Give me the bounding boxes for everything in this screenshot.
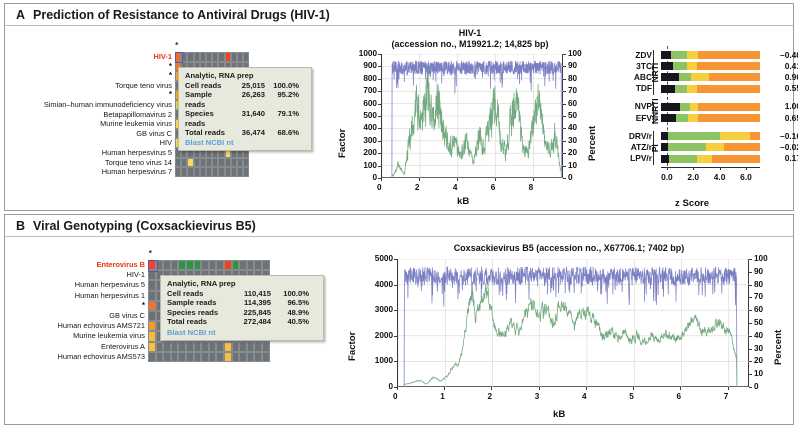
tooltip-row: Total reads36,47468.6% <box>185 128 305 137</box>
linechart-ytick-mark-right <box>749 387 752 388</box>
linechart-b-ylabel-right: Percent <box>773 330 784 365</box>
linechart-xtick-mark <box>680 387 681 390</box>
heatmap-row-label-star: * <box>44 71 172 81</box>
zscore-xtick-mark <box>746 167 747 171</box>
zscore-segment-black <box>661 114 676 122</box>
linechart-ytick-right: 30 <box>568 136 577 145</box>
linechart-ytick-right: 70 <box>754 292 763 301</box>
linechart-ytick-mark-right <box>563 178 566 179</box>
heatmap-row-label: Murine leukemia virus <box>58 331 146 341</box>
tooltip-row-key: Cell reads <box>185 81 233 90</box>
zscore-drug-label-tdf: TDF <box>617 83 652 93</box>
heatmap-row-label: Human echovirus AMS721 <box>58 321 146 331</box>
linechart-ytick-mark-left <box>378 128 381 129</box>
linechart-ytick-mark-left <box>378 54 381 55</box>
series-coverage-factor <box>382 66 564 178</box>
heatmap-cell[interactable] <box>201 260 209 270</box>
heatmap-cell[interactable] <box>232 260 240 270</box>
linechart-a-title-line1: HIV-1 <box>335 28 605 39</box>
tooltip-row-percent: 48.9% <box>271 308 309 317</box>
heatmap-row-label: Simian–human immunodeficiency virus <box>44 100 172 110</box>
zscore-segment-orange <box>712 155 761 163</box>
linechart-ytick-mark-right <box>749 374 752 375</box>
heatmap-cell[interactable] <box>254 260 262 270</box>
linechart-ytick-left: 400 <box>363 123 377 132</box>
linechart-ytick-right: 10 <box>568 161 577 170</box>
linechart-ytick-left: 100 <box>363 161 377 170</box>
heatmap-row-label: Human herpesvirus 7 <box>44 167 172 177</box>
heatmap-cell[interactable] <box>262 342 270 352</box>
tooltip-row: Sample reads26,26395.2% <box>185 90 305 109</box>
linechart-ytick-mark-right <box>749 310 752 311</box>
zscore-segment-orange <box>698 103 761 111</box>
tooltip-row-percent: 68.6% <box>265 128 299 137</box>
zscore-segment-green <box>668 143 707 151</box>
linechart-xtick-mark <box>495 178 496 181</box>
heatmap-cell[interactable] <box>148 280 156 290</box>
zscore-bar[interactable] <box>661 51 760 59</box>
heatmap-cell[interactable] <box>178 342 186 352</box>
zscore-segment-yellow <box>706 143 724 151</box>
linechart-ytick-left: 600 <box>363 99 377 108</box>
heatmap-cell[interactable] <box>239 260 247 270</box>
linechart-xtick-mark <box>633 387 634 390</box>
linechart-ytick-right: 80 <box>568 74 577 83</box>
zscore-segment-yellow <box>691 73 709 81</box>
zscore-value: –0.02 <box>771 142 798 152</box>
heatmap-cell[interactable] <box>194 342 202 352</box>
zscore-segment-green <box>679 73 691 81</box>
linechart-ytick-right: 80 <box>754 280 763 289</box>
panel-a-letter: A <box>16 8 25 22</box>
heatmap-row-label: Enterovirus A <box>58 342 146 352</box>
panel-a-title: Prediction of Resistance to Antiviral Dr… <box>33 8 330 22</box>
zscore-bar[interactable] <box>661 155 760 163</box>
linechart-xtick-mark <box>419 178 420 181</box>
zscore-segment-orange <box>697 62 760 70</box>
heatmap-cell[interactable] <box>163 260 171 270</box>
linechart-ytick-left: 4000 <box>375 280 393 289</box>
series-coverage-factor <box>398 283 750 387</box>
zscore-drug-label-atz-r: ATZ/r <box>617 142 652 152</box>
linechart-ytick-mark-right <box>563 153 566 154</box>
zscore-segment-black <box>661 51 671 59</box>
heatmap-cell[interactable] <box>247 352 255 362</box>
heatmap-b-row-labels: Enterovirus BHIV-1Human herpesvirus 5Hum… <box>58 260 149 362</box>
linechart-ytick-right: 40 <box>568 123 577 132</box>
tooltip-row: Sample reads114,39596.5% <box>167 298 317 307</box>
linechart-ytick-mark-right <box>749 323 752 324</box>
zscore-segment-orange <box>709 73 760 81</box>
heatmap-cell[interactable] <box>243 52 249 62</box>
linechart-ytick-mark-right <box>563 128 566 129</box>
zscore-drug-label-3tc: 3TC <box>617 61 652 71</box>
heatmap-cell[interactable] <box>194 352 202 362</box>
heatmap-cell[interactable] <box>148 352 156 362</box>
linechart-b: Coxsackievirus B5 (accession no., X67706… <box>345 243 793 433</box>
linechart-ytick-right: 20 <box>568 148 577 157</box>
heatmap-cell[interactable] <box>178 260 186 270</box>
linechart-ytick-left: 1000 <box>375 356 393 365</box>
linechart-ytick-left: 3000 <box>375 305 393 314</box>
heatmap-cell[interactable] <box>201 342 209 352</box>
tooltip-b-rows: Cell reads110,415100.0%Sample reads114,3… <box>167 289 317 327</box>
linechart-xtick: 2 <box>487 392 492 401</box>
linechart-ytick-right: 10 <box>754 369 763 378</box>
zscore-segment-orange <box>698 51 761 59</box>
tooltip-row-key: Total reads <box>167 317 229 326</box>
heatmap-cell[interactable] <box>156 260 164 270</box>
tooltip-a-title: Analytic, RNA prep <box>185 71 305 80</box>
panel-a-body: HIV-1**Torque teno virus*Simian–human im… <box>5 26 793 210</box>
linechart-ytick-mark-right <box>749 285 752 286</box>
heatmap-cell[interactable] <box>262 352 270 362</box>
linechart-ytick-mark-right <box>563 116 566 117</box>
linechart-ytick-right: 90 <box>754 267 763 276</box>
linechart-ytick-left: 5000 <box>375 254 393 263</box>
heatmap-cell[interactable] <box>224 342 232 352</box>
tooltip-row-percent: 100.0% <box>271 289 309 298</box>
zscore-value: 0.41 <box>771 61 798 71</box>
zscore-chart: ZDV–0.403TC0.41ABC0.96TDF0.55NVP1.00EFV0… <box>617 46 793 221</box>
zscore-value: 0.17 <box>771 153 798 163</box>
linechart-svg <box>398 259 750 387</box>
zscore-segment-black <box>661 143 668 151</box>
heatmap-row-label-star: * <box>58 301 146 311</box>
linechart-ytick-mark-right <box>749 272 752 273</box>
heatmap-b-column-star: * <box>149 249 152 258</box>
zscore-segment-black <box>661 103 680 111</box>
zscore-value: –0.16 <box>771 131 798 141</box>
linechart-a-xlabel: kB <box>457 196 469 207</box>
linechart-ytick-right: 100 <box>754 254 768 263</box>
heatmap-row-label: HIV-1 <box>44 52 172 62</box>
zscore-value: 1.00 <box>771 101 798 111</box>
heatmap-cell[interactable] <box>243 167 249 177</box>
heatmap-cell[interactable] <box>148 311 156 321</box>
heatmap-row-label: Torque teno virus 14 <box>44 158 172 168</box>
tooltip-row-value: 110,415 <box>229 289 271 298</box>
linechart-xtick: 2 <box>415 183 420 192</box>
linechart-xtick-mark <box>491 387 492 390</box>
linechart-svg <box>382 54 564 178</box>
zscore-value: –0.40 <box>771 50 798 60</box>
zscore-bar[interactable] <box>661 85 760 93</box>
linechart-b-plot <box>397 259 749 387</box>
linechart-ytick-mark-left <box>394 285 397 286</box>
linechart-a: HIV-1 (accession no., M19921.2; 14,825 b… <box>335 28 605 218</box>
zscore-drug-label-zdv: ZDV <box>617 50 652 60</box>
linechart-ytick-left: 1000 <box>359 49 377 58</box>
linechart-ytick-mark-left <box>378 104 381 105</box>
linechart-ytick-left: 900 <box>363 61 377 70</box>
linechart-ytick-mark-right <box>749 361 752 362</box>
tooltip-b-title: Analytic, RNA prep <box>167 279 317 288</box>
heatmap-a-row-labels: HIV-1**Torque teno virus*Simian–human im… <box>44 52 175 177</box>
tooltip-row-value: 36,474 <box>233 128 265 137</box>
zscore-segment-green <box>669 155 696 163</box>
tooltip-b-blast-link[interactable]: Blast NCBI nt <box>167 328 317 337</box>
linechart-ytick-left: 500 <box>363 111 377 120</box>
heatmap-cell[interactable] <box>171 352 179 362</box>
tooltip-b[interactable]: Analytic, RNA prep Cell reads110,415100.… <box>160 275 324 341</box>
heatmap-row-label: GB virus C <box>58 311 146 321</box>
tooltip-row-key: Species reads <box>167 308 229 317</box>
zscore-xtick: 6.0 <box>736 172 756 182</box>
heatmap-cell[interactable] <box>243 158 249 168</box>
linechart-ytick-right: 100 <box>568 49 582 58</box>
heatmap-cell[interactable] <box>148 270 156 280</box>
zscore-bar[interactable] <box>661 114 760 122</box>
linechart-xtick-mark <box>397 387 398 390</box>
linechart-ytick-left: 2000 <box>375 331 393 340</box>
linechart-xtick: 1 <box>440 392 445 401</box>
heatmap-cell[interactable] <box>216 260 224 270</box>
linechart-xtick-mark <box>444 387 445 390</box>
panel-b-letter: B <box>16 219 25 233</box>
zscore-bar[interactable] <box>661 143 760 151</box>
heatmap-row-label: Enterovirus B <box>58 260 146 270</box>
linechart-ytick-left: 700 <box>363 86 377 95</box>
linechart-b-title-line1: Coxsackievirus B5 (accession no., X67706… <box>345 243 793 254</box>
tooltip-row-key: Cell reads <box>167 289 229 298</box>
zscore-xtick-mark <box>667 167 668 171</box>
panel-b-body: Enterovirus BHIV-1Human herpesvirus 5Hum… <box>5 237 793 424</box>
linechart-ytick-mark-left <box>394 259 397 260</box>
heatmap-row-label: Betapapillomavirus 2 <box>44 110 172 120</box>
linechart-ytick-mark-left <box>378 166 381 167</box>
heatmap-cell[interactable] <box>209 352 217 362</box>
heatmap-cell[interactable] <box>156 352 164 362</box>
heatmap-cell[interactable] <box>148 291 156 301</box>
zscore-segment-green <box>671 51 687 59</box>
tooltip-a[interactable]: Analytic, RNA prep Cell reads25,015100.0… <box>178 67 312 151</box>
tooltip-row-percent: 40.5% <box>271 317 309 326</box>
heatmap-cell[interactable] <box>163 352 171 362</box>
tooltip-row-value: 26,263 <box>233 90 265 109</box>
linechart-ytick-right: 40 <box>754 331 763 340</box>
heatmap-cell[interactable] <box>254 342 262 352</box>
linechart-xtick: 3 <box>535 392 540 401</box>
tooltip-row-value: 272,484 <box>229 317 271 326</box>
linechart-xtick-mark <box>539 387 540 390</box>
zscore-group-label-nrti: NRTI <box>650 50 660 95</box>
heatmap-cell[interactable] <box>148 321 156 331</box>
panel-a: A Prediction of Resistance to Antiviral … <box>4 3 794 211</box>
zscore-segment-yellow <box>687 85 697 93</box>
linechart-ytick-right: 70 <box>568 86 577 95</box>
heatmap-cell[interactable] <box>232 342 240 352</box>
heatmap-row-label: Human herpesvirus 5 <box>44 148 172 158</box>
zscore-segment-orange <box>724 143 760 151</box>
tooltip-row-value: 25,015 <box>233 81 265 90</box>
linechart-ytick-mark-right <box>563 79 566 80</box>
heatmap-cell[interactable] <box>148 342 156 352</box>
linechart-xtick: 0 <box>393 392 398 401</box>
linechart-ytick-left: 200 <box>363 148 377 157</box>
heatmap-cell[interactable] <box>224 260 232 270</box>
heatmap-cell[interactable] <box>224 352 232 362</box>
tooltip-row-key: Species reads <box>185 109 233 128</box>
zscore-xtick: 4.0 <box>710 172 730 182</box>
tooltip-row-percent: 100.0% <box>265 81 299 90</box>
heatmap-cell[interactable] <box>247 342 255 352</box>
heatmap-cell[interactable] <box>163 342 171 352</box>
linechart-ytick-mark-left <box>394 336 397 337</box>
heatmap-cell[interactable] <box>209 342 217 352</box>
zscore-drug-label-drv-r: DRV/r <box>617 131 652 141</box>
heatmap-row-label: Human echovirus AMS573 <box>58 352 146 362</box>
tooltip-row-value: 114,395 <box>229 298 271 307</box>
linechart-b-xlabel: kB <box>553 409 565 420</box>
linechart-ytick-mark-right <box>749 349 752 350</box>
linechart-xtick: 6 <box>491 183 496 192</box>
heatmap-cell[interactable] <box>201 352 209 362</box>
zscore-bar[interactable] <box>661 103 760 111</box>
tooltip-row-percent: 95.2% <box>265 90 299 109</box>
heatmap-cell[interactable] <box>232 352 240 362</box>
zscore-segment-black <box>661 132 668 140</box>
linechart-xtick: 5 <box>629 392 634 401</box>
zscore-bar[interactable] <box>661 62 760 70</box>
linechart-a-plot <box>381 54 563 178</box>
tooltip-row-percent: 96.5% <box>271 298 309 307</box>
zscore-segment-black <box>661 155 669 163</box>
heatmap-cell[interactable] <box>156 342 164 352</box>
zscore-segment-green <box>673 62 687 70</box>
zscore-segment-yellow <box>697 155 712 163</box>
linechart-ytick-mark-right <box>563 141 566 142</box>
zscore-drug-label-nvp: NVP <box>617 101 652 111</box>
zscore-value: 0.55 <box>771 83 798 93</box>
linechart-xtick: 7 <box>724 392 729 401</box>
tooltip-row: Species reads225,84548.9% <box>167 308 317 317</box>
tooltip-row-value: 225,845 <box>229 308 271 317</box>
zscore-segment-orange <box>698 114 761 122</box>
heatmap-cell[interactable] <box>194 260 202 270</box>
heatmap-row-label: HIV-1 <box>58 270 146 280</box>
zscore-value: 0.65 <box>771 113 798 123</box>
zscore-segment-green <box>675 85 688 93</box>
zscore-segment-orange <box>697 85 760 93</box>
heatmap-cell[interactable] <box>171 260 179 270</box>
linechart-ytick-left: 800 <box>363 74 377 83</box>
zscore-drug-label-lpv-r: LPV/r <box>617 153 652 163</box>
heatmap-row-label: Torque teno virus <box>44 81 172 91</box>
zscore-bar[interactable] <box>661 132 760 140</box>
tooltip-row-key: Total reads <box>185 128 233 137</box>
figure-root: A Prediction of Resistance to Antiviral … <box>0 0 798 428</box>
linechart-xtick: 4 <box>453 183 458 192</box>
tooltip-row: Cell reads110,415100.0% <box>167 289 317 298</box>
panel-b-header: B Viral Genotyping (Coxsackievirus B5) <box>5 215 793 237</box>
linechart-ytick-right: 90 <box>568 61 577 70</box>
zscore-segment-yellow <box>720 132 750 140</box>
zscore-drug-label-abc: ABC <box>617 72 652 82</box>
zscore-group-label-pi: PI <box>650 131 660 165</box>
linechart-ytick-right: 20 <box>754 356 763 365</box>
zscore-segment-yellow <box>688 114 698 122</box>
heatmap-row-label: HIV <box>44 138 172 148</box>
tooltip-row-percent: 79.1% <box>265 109 299 128</box>
zscore-segment-black <box>661 85 675 93</box>
linechart-xtick-mark <box>728 387 729 390</box>
tooltip-row: Cell reads25,015100.0% <box>185 81 305 90</box>
linechart-ytick-mark-right <box>563 91 566 92</box>
heatmap-cell[interactable] <box>254 352 262 362</box>
heatmap-cell[interactable] <box>148 301 156 311</box>
heatmap-cell[interactable] <box>262 260 270 270</box>
zscore-segment-yellow <box>687 62 697 70</box>
linechart-ytick-right: 60 <box>754 305 763 314</box>
tooltip-a-rows: Cell reads25,015100.0%Sample reads26,263… <box>185 81 305 137</box>
heatmap-row-label: Human herpesvirus 5 <box>58 280 146 290</box>
heatmap-cell[interactable] <box>216 352 224 362</box>
heatmap-cell[interactable] <box>171 342 179 352</box>
linechart-ytick-mark-left <box>378 66 381 67</box>
zscore-segment-black <box>661 73 679 81</box>
linechart-ytick-mark-right <box>563 166 566 167</box>
zscore-segment-green <box>680 103 690 111</box>
linechart-ytick-right: 50 <box>568 111 577 120</box>
heatmap-cell[interactable] <box>186 260 194 270</box>
zscore-segment-green <box>668 132 721 140</box>
linechart-xtick-mark <box>533 178 534 181</box>
heatmap-row-label-star: * <box>44 62 172 72</box>
heatmap-cell[interactable] <box>186 352 194 362</box>
linechart-ytick-mark-left <box>394 361 397 362</box>
linechart-ytick-mark-right <box>749 259 752 260</box>
heatmap-cell[interactable] <box>209 260 217 270</box>
linechart-ytick-right: 60 <box>568 99 577 108</box>
linechart-xtick-mark <box>457 178 458 181</box>
heatmap-cell[interactable] <box>239 342 247 352</box>
zscore-xlabel: z Score <box>675 198 709 209</box>
heatmap-cell[interactable] <box>247 260 255 270</box>
linechart-a-ylabel-left: Factor <box>337 129 348 158</box>
zscore-segment-yellow <box>690 103 698 111</box>
linechart-ytick-left: 300 <box>363 136 377 145</box>
heatmap-cell[interactable] <box>239 352 247 362</box>
linechart-ytick-mark-left <box>378 91 381 92</box>
linechart-xtick: 6 <box>676 392 681 401</box>
heatmap-row-label-star: * <box>44 90 172 100</box>
heatmap-cell[interactable] <box>216 342 224 352</box>
linechart-ytick-left: 0 <box>372 173 377 182</box>
linechart-b-ylabel-left: Factor <box>347 332 358 361</box>
heatmap-cell[interactable] <box>148 260 156 270</box>
tooltip-row: Species reads31,64079.1% <box>185 109 305 128</box>
tooltip-row-key: Sample reads <box>185 90 233 109</box>
zscore-group-label-nnrti: NNRTI <box>650 102 660 124</box>
tooltip-row-value: 31,640 <box>233 109 265 128</box>
linechart-ytick-mark-left <box>394 310 397 311</box>
heatmap-cell[interactable] <box>186 342 194 352</box>
zscore-bar[interactable] <box>661 73 760 81</box>
zscore-xtick: 2.0 <box>683 172 703 182</box>
heatmap-row-label: GB virus C <box>44 129 172 139</box>
heatmap-row-label: Murine leukemia virus <box>44 119 172 129</box>
tooltip-a-blast-link[interactable]: Blast NCBI nt <box>185 138 305 147</box>
linechart-ytick-mark-left <box>378 141 381 142</box>
zscore-segment-black <box>661 62 674 70</box>
zscore-segment-yellow <box>687 51 698 59</box>
linechart-ytick-mark-right <box>563 66 566 67</box>
heatmap-cell[interactable] <box>178 352 186 362</box>
heatmap-cell[interactable] <box>148 331 156 341</box>
linechart-ytick-left: 0 <box>388 382 393 391</box>
linechart-ytick-right: 0 <box>568 173 573 182</box>
